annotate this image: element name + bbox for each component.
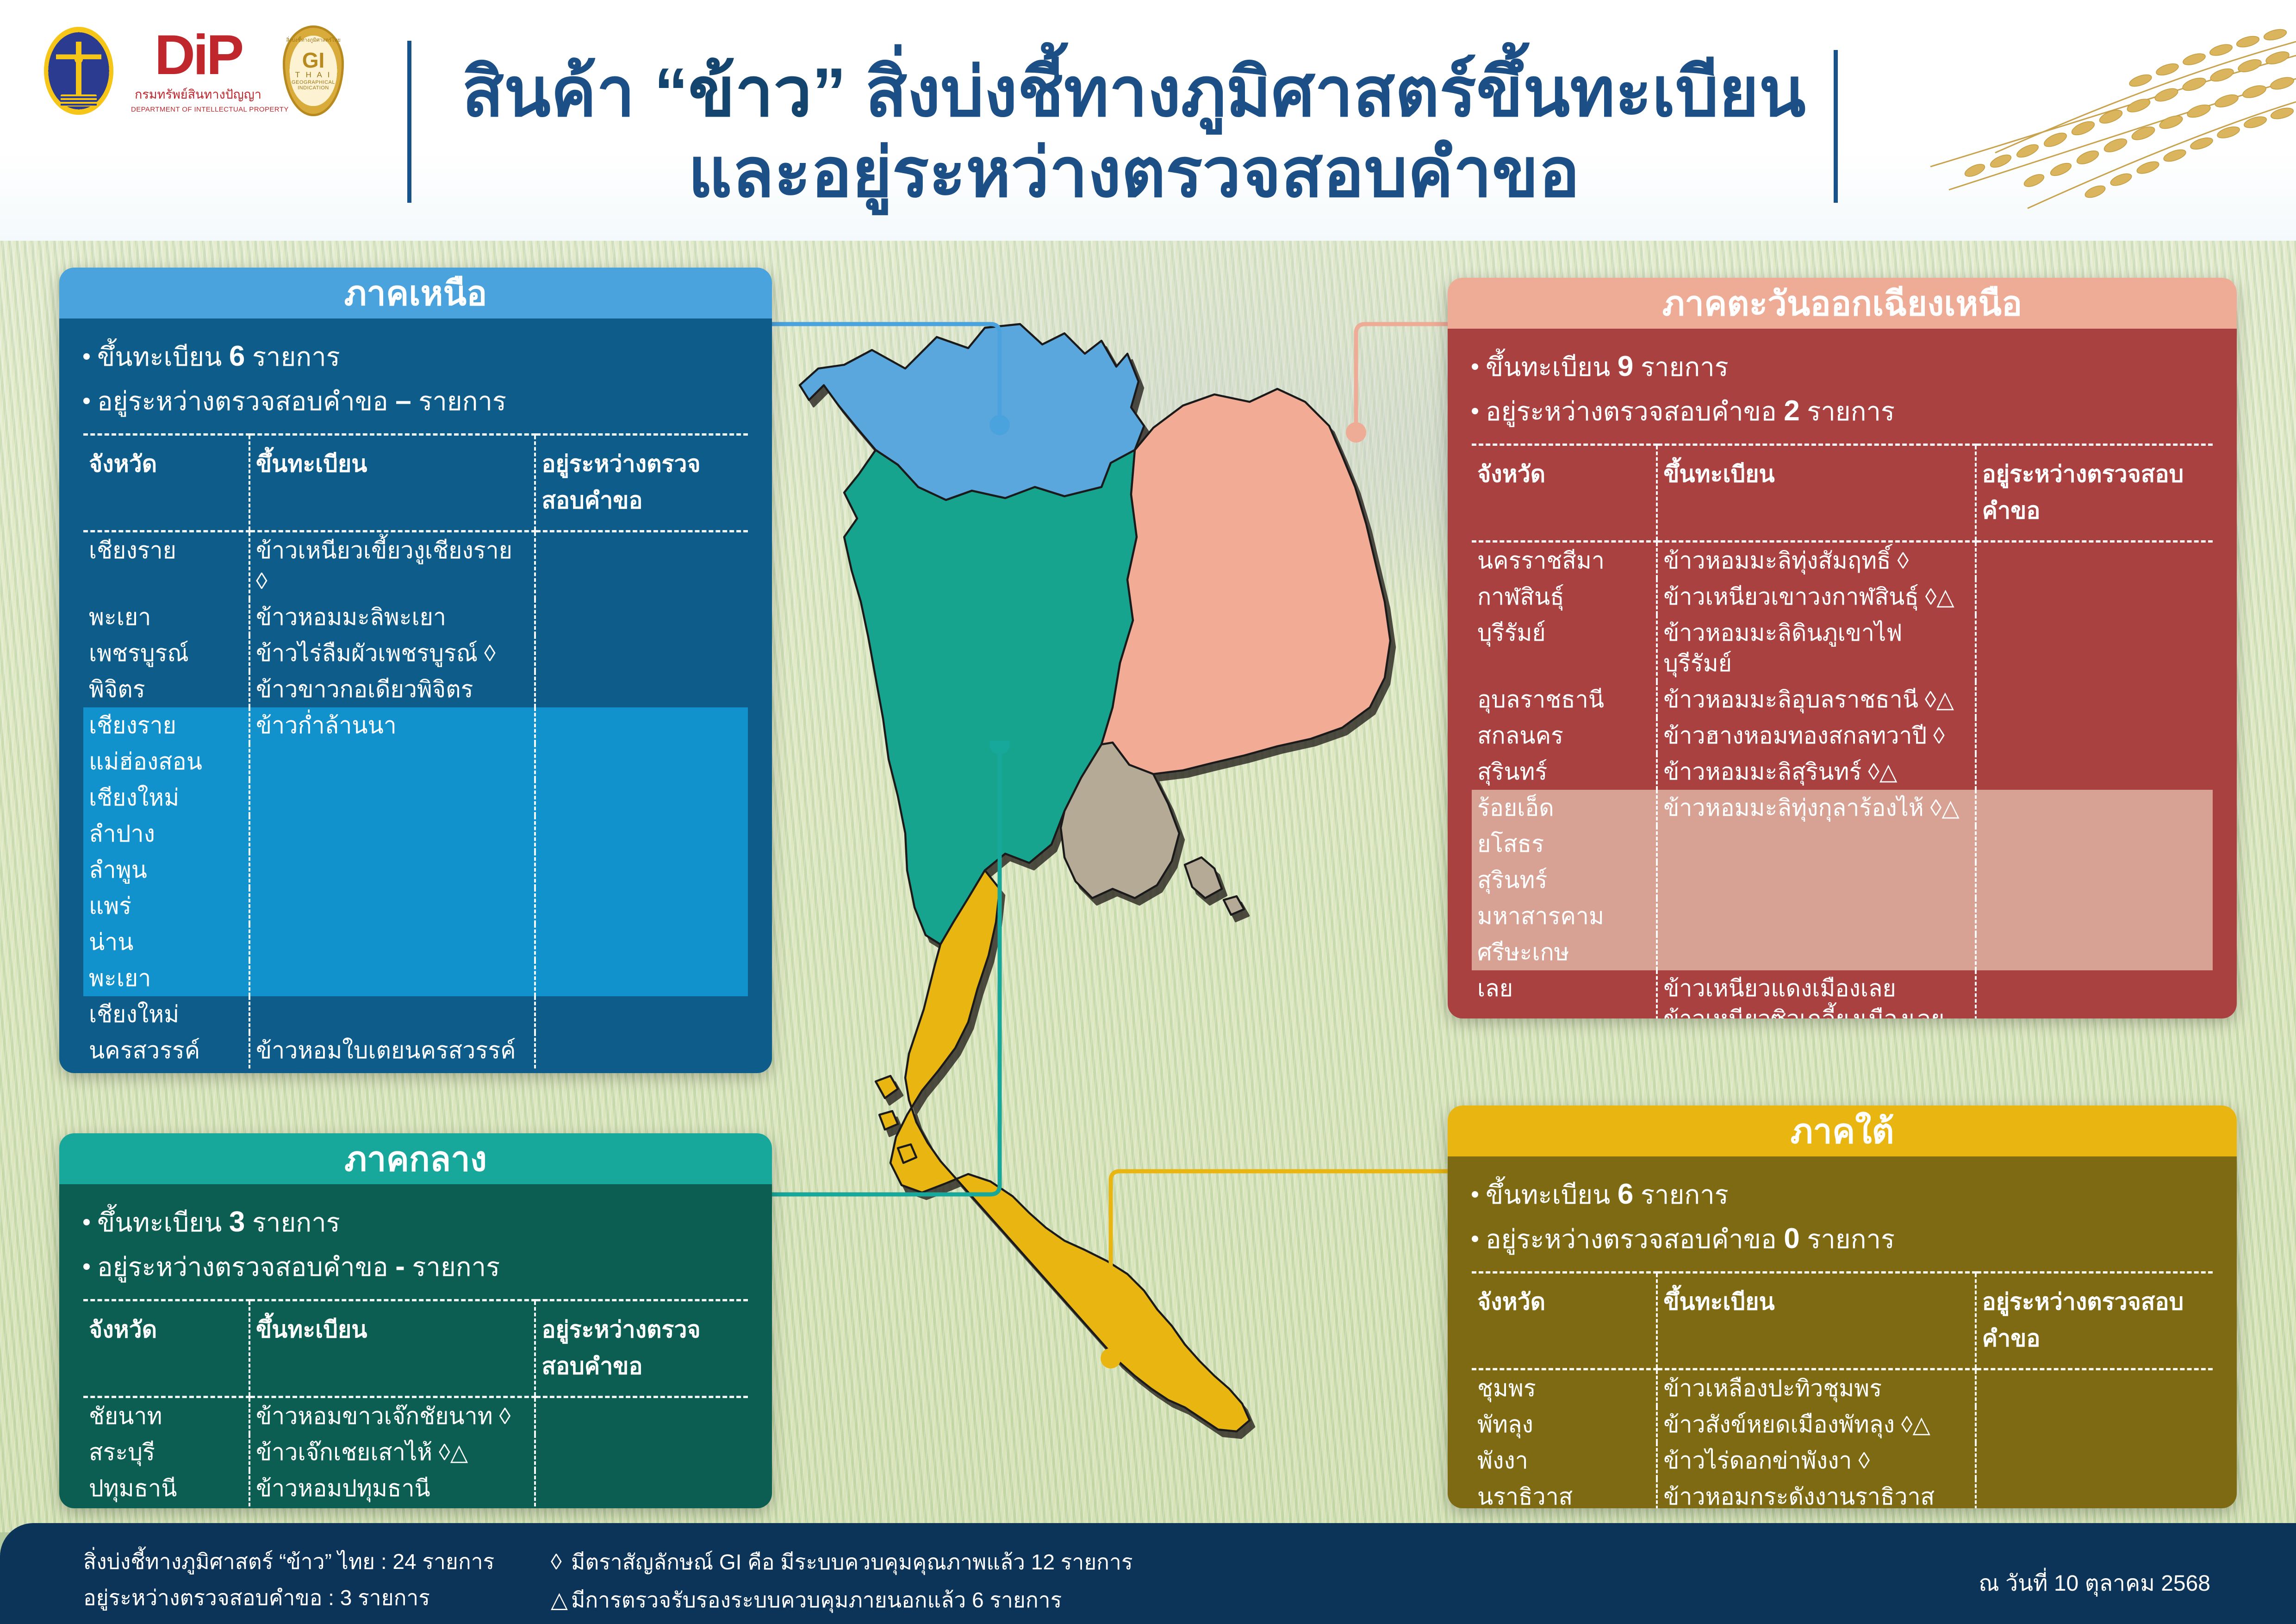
cell-registered: ข้าวหอมมะลิทุ่งสัมฤทธิ์ ◊ — [1657, 542, 1975, 579]
title-divider-left — [407, 41, 411, 203]
title-line-2: และอยู่ระหว่างตรวจสอบคำขอ — [440, 135, 1828, 212]
bullet-dot-icon — [83, 1219, 90, 1225]
title-part-product: สินค้า — [462, 54, 654, 131]
cell-registered: ข้าวหอมใบเตยนครสวรรค์ — [249, 1032, 535, 1068]
region-table-north: จังหวัด ขึ้นทะเบียน อยู่ระหว่างตรวจสอบคำ… — [83, 433, 748, 1068]
cell-pending — [1976, 1406, 2213, 1443]
cell-province: อุบลราชธานี — [1472, 681, 1657, 718]
footer-legend: ◊มีตราสัญลักษณ์ GI คือ มีระบบควบคุมคุณภา… — [551, 1543, 1133, 1619]
table-header-row: จังหวัด ขึ้นทะเบียน อยู่ระหว่างตรวจสอบคำ… — [83, 1300, 748, 1397]
region-summary-north: ขึ้นทะเบียน 6 รายการ อยู่ระหว่างตรวจสอบค… — [83, 334, 748, 423]
col-header-pending: อยู่ระหว่างตรวจสอบคำขอ — [1976, 445, 2213, 542]
triangle-icon: △ — [551, 1581, 571, 1619]
cell-province: ร้อยเอ็ด — [1472, 790, 1657, 826]
cell-pending — [1976, 579, 2213, 615]
pending-count-northeast: อยู่ระหว่างตรวจสอบคำขอ 2 รายการ — [1472, 389, 2213, 433]
cell-registered: ข้าวฮางหอมทองสกลทวาปี ◊ — [1657, 718, 1975, 754]
table-row: เชียงรายข้าวเหนียวเขี้ยวงูเชียงราย ◊ — [83, 531, 748, 600]
table-row: นครสวรรค์ข้าวหอมใบเตยนครสวรรค์ — [83, 1032, 748, 1068]
table-row: สกลนครข้าวฮางหอมทองสกลทวาปี ◊ — [1472, 718, 2213, 754]
col-header-province: จังหวัด — [1472, 1273, 1657, 1369]
table-row: เชียงใหม่ — [83, 780, 748, 816]
gi-sub-line-1: GEOGRAPHICAL — [292, 80, 335, 85]
registered-count-northeast: ขึ้นทะเบียน 9 รายการ — [1472, 344, 2213, 389]
cell-registered — [249, 743, 535, 780]
col-header-province: จังหวัด — [1472, 445, 1657, 542]
cell-province: เลย — [1472, 970, 1657, 1018]
cell-pending — [535, 960, 748, 996]
col-header-pending: อยู่ระหว่างตรวจสอบคำขอ — [1976, 1273, 2213, 1369]
cell-pending — [1976, 718, 2213, 754]
map-region-northeast — [1101, 389, 1390, 774]
cell-registered — [249, 960, 535, 996]
cell-registered: ข้าวหอมมะลิอุบลราชธานี ◊△ — [1657, 681, 1975, 718]
table-row: น่าน — [83, 924, 748, 960]
footer-pending-items: อยู่ระหว่างตรวจสอบคำขอ : 3 รายการ — [83, 1580, 494, 1616]
cell-province: พัทลุง — [1472, 1406, 1657, 1443]
region-panel-south: ภาคใต้ ขึ้นทะเบียน 6 รายการ อยู่ระหว่างต… — [1448, 1106, 2237, 1508]
cell-registered — [249, 888, 535, 924]
dip-english-name: DEPARTMENT OF INTELLECTUAL PROPERTY — [131, 106, 265, 113]
cell-registered — [249, 852, 535, 888]
cell-province: เชียงใหม่ — [83, 996, 249, 1032]
cell-pending — [535, 707, 748, 743]
cell-registered — [249, 816, 535, 852]
pending-count-central: อยู่ระหว่างตรวจสอบคำขอ - รายการ — [83, 1244, 748, 1289]
col-header-province: จังหวัด — [83, 1300, 249, 1397]
cell-pending — [1976, 898, 2213, 934]
cell-registered — [1657, 862, 1975, 898]
footer-total-items: สิ่งบ่งชี้ทางภูมิศาสตร์ “ข้าว” ไทย : 24 … — [83, 1543, 494, 1580]
cell-registered: ข้าวหอมมะลิสุรินทร์ ◊△ — [1657, 754, 1975, 790]
cell-pending — [535, 816, 748, 852]
table-row: ยโสธร — [1472, 826, 2213, 862]
thailand-map — [787, 296, 1435, 1509]
cell-registered: ข้าวเจ๊กเชยเสาไห้ ◊△ — [249, 1434, 535, 1470]
cell-pending — [535, 924, 748, 960]
bullet-dot-icon — [1472, 408, 1478, 414]
bullet-dot-icon — [1472, 1191, 1478, 1198]
page-header: DiP กรมทรัพย์สินทางปัญญา DEPARTMENT OF I… — [0, 0, 2296, 241]
footer-date: ณ วันที่ 10 ตุลาคม 2568 — [1979, 1566, 2210, 1601]
bullet-dot-icon — [83, 1263, 90, 1270]
region-panel-central: ภาคกลาง ขึ้นทะเบียน 3 รายการ อยู่ระหว่าง… — [59, 1133, 772, 1508]
title-part-gi: สิ่งบ่งชี้ทางภูมิศาสตร์ขึ้นทะเบียน — [846, 54, 1805, 131]
map-region-south — [890, 870, 1250, 1431]
region-table-south: จังหวัด ขึ้นทะเบียน อยู่ระหว่างตรวจสอบคำ… — [1472, 1271, 2213, 1508]
cell-province: แพร่ — [83, 888, 249, 924]
map-region-east-islands — [1185, 857, 1244, 915]
registered-count-central: ขึ้นทะเบียน 3 รายการ — [83, 1200, 748, 1244]
table-row: สุรินทร์ — [1472, 862, 2213, 898]
region-panel-north: ภาคเหนือ ขึ้นทะเบียน 6 รายการ อยู่ระหว่า… — [59, 268, 772, 1073]
table-row: สระบุรีข้าวเจ๊กเชยเสาไห้ ◊△ — [83, 1434, 748, 1470]
cell-province: แม่ฮ่องสอน — [83, 743, 249, 780]
cell-registered: ข้าวหอมปทุมธานี — [249, 1470, 535, 1506]
table-row: พะเยาข้าวหอมมะลิพะเยา — [83, 599, 748, 635]
cell-registered: ข้าวหอมมะลิดินภูเขาไฟบุรีรัมย์ — [1657, 615, 1975, 681]
table-row: ร้อยเอ็ดข้าวหอมมะลิทุ่งกุลาร้องไห้ ◊△ — [1472, 790, 2213, 826]
cell-province: ชัยนาท — [83, 1397, 249, 1435]
title-part-rice: “ข้าว” — [654, 54, 846, 131]
cell-registered — [1657, 934, 1975, 970]
col-header-registered: ขึ้นทะเบียน — [1657, 445, 1975, 542]
table-row: บุรีรัมย์ข้าวหอมมะลิดินภูเขาไฟบุรีรัมย์ — [1472, 615, 2213, 681]
table-row: ชุมพรข้าวเหลืองปะทิวชุมพร — [1472, 1369, 2213, 1407]
cell-province: ลำปาง — [83, 816, 249, 852]
cell-pending — [535, 531, 748, 600]
cell-pending — [1976, 754, 2213, 790]
cell-pending — [535, 780, 748, 816]
region-summary-south: ขึ้นทะเบียน 6 รายการ อยู่ระหว่างตรวจสอบค… — [1472, 1172, 2213, 1261]
cell-pending — [1976, 615, 2213, 681]
table-header-row: จังหวัด ขึ้นทะเบียน อยู่ระหว่างตรวจสอบคำ… — [1472, 1273, 2213, 1369]
cell-province: สกลนคร — [1472, 718, 1657, 754]
cell-registered — [249, 996, 535, 1032]
table-row: นราธิวาสข้าวหอมกระดังงานราธิวาส — [1472, 1479, 2213, 1508]
table-header-row: จังหวัด ขึ้นทะเบียน อยู่ระหว่างตรวจสอบคำ… — [83, 435, 748, 531]
region-panel-northeast: ภาคตะวันออกเฉียงเหนือ ขึ้นทะเบียน 9 รายก… — [1448, 278, 2237, 1018]
col-header-registered: ขึ้นทะเบียน — [249, 435, 535, 531]
cell-province: นครราชสีมา — [1472, 542, 1657, 579]
cell-pending — [1976, 1443, 2213, 1479]
cell-province: สุรินทร์ — [1472, 754, 1657, 790]
col-header-registered: ขึ้นทะเบียน — [1657, 1273, 1975, 1369]
cell-pending — [535, 743, 748, 780]
col-header-pending: อยู่ระหว่างตรวจสอบคำขอ — [535, 435, 748, 531]
cell-province: ชุมพร — [1472, 1369, 1657, 1407]
cell-province: เชียงราย — [83, 707, 249, 743]
cell-registered: ข้าวไร่ลืมผัวเพชรบูรณ์ ◊ — [249, 635, 535, 671]
page-footer: สิ่งบ่งชี้ทางภูมิศาสตร์ “ข้าว” ไทย : 24 … — [0, 1523, 2296, 1624]
table-row: มหาสารคาม — [1472, 898, 2213, 934]
cell-province: ปทุมธานี — [83, 1470, 249, 1506]
table-row: พัทลุงข้าวสังข์หยดเมืองพัทลุง ◊△ — [1472, 1406, 2213, 1443]
cell-province: เพชรบูรณ์ — [83, 635, 249, 671]
dip-thai-name: กรมทรัพย์สินทางปัญญา — [131, 84, 265, 104]
title-divider-right — [1834, 50, 1838, 203]
cell-registered: ข้าวเหลืองปะทิวชุมพร — [1657, 1369, 1975, 1407]
col-header-pending: อยู่ระหว่างตรวจสอบคำขอ — [535, 1300, 748, 1397]
cell-registered — [1657, 898, 1975, 934]
cell-pending — [535, 852, 748, 888]
cell-province: กาฬสินธุ์ — [1472, 579, 1657, 615]
table-row: ปทุมธานีข้าวหอมปทุมธานี — [83, 1470, 748, 1506]
logo-group: DiP กรมทรัพย์สินทางปัญญา DEPARTMENT OF I… — [44, 25, 344, 116]
cell-province: พะเยา — [83, 599, 249, 635]
table-row: ลำพูน — [83, 852, 748, 888]
cell-registered: ข้าวหอมมะลิทุ่งกุลาร้องไห้ ◊△ — [1657, 790, 1975, 826]
region-title-south: ภาคใต้ — [1448, 1106, 2237, 1156]
cell-pending — [535, 671, 748, 707]
cell-pending — [535, 1434, 748, 1470]
gi-thai-label: T H A I — [295, 70, 332, 80]
region-title-north: ภาคเหนือ — [59, 268, 772, 319]
cell-province: พิจิตร — [83, 671, 249, 707]
table-row: ลำปาง — [83, 816, 748, 852]
table-row: กาฬสินธุ์ข้าวเหนียวเขาวงกาฬสินธุ์ ◊△ — [1472, 579, 2213, 615]
page-title: สินค้า “ข้าว” สิ่งบ่งชี้ทางภูมิศาสตร์ขึ้… — [440, 51, 1828, 211]
gi-sub-line-2: INDICATION — [298, 85, 329, 91]
cell-registered: ข้าวเหนียวแดงเมืองเลย ข้าวเหนียวซิวเกลี้… — [1657, 970, 1975, 1018]
cell-pending — [1976, 826, 2213, 862]
table-row: เพชรบูรณ์ข้าวไร่ลืมผัวเพชรบูรณ์ ◊ — [83, 635, 748, 671]
region-summary-northeast: ขึ้นทะเบียน 9 รายการ อยู่ระหว่างตรวจสอบค… — [1472, 344, 2213, 433]
rice-ears-illustration — [1842, 14, 2296, 227]
cell-registered: ข้าวไร่ดอกข่าพังงา ◊ — [1657, 1443, 1975, 1479]
cell-registered: ข้าวสังข์หยดเมืองพัทลุง ◊△ — [1657, 1406, 1975, 1443]
cell-province: พะเยา — [83, 960, 249, 996]
legend-triangle: △มีการตรวจรับรองระบบควบคุมภายนอกแล้ว 6 ร… — [551, 1581, 1133, 1619]
pending-count-south: อยู่ระหว่างตรวจสอบคำขอ 0 รายการ — [1472, 1217, 2213, 1261]
cell-registered: ข้าวก่ำล้านนา — [249, 707, 535, 743]
cell-registered — [1657, 826, 1975, 862]
pending-count-north: อยู่ระหว่างตรวจสอบคำขอ – รายการ — [83, 379, 748, 423]
cell-province: นราธิวาส — [1472, 1479, 1657, 1508]
bullet-dot-icon — [83, 398, 90, 404]
cell-province: นครสวรรค์ — [83, 1032, 249, 1068]
bullet-dot-icon — [83, 353, 90, 360]
cell-registered: ข้าวขาวกอเดียวพิจิตร — [249, 671, 535, 707]
bullet-dot-icon — [1472, 363, 1478, 370]
cell-province: มหาสารคาม — [1472, 898, 1657, 934]
gi-monogram: GI — [302, 51, 325, 70]
cell-province: เชียงใหม่ — [83, 780, 249, 816]
cell-province: ลำพูน — [83, 852, 249, 888]
table-row: นครราชสีมาข้าวหอมมะลิทุ่งสัมฤทธิ์ ◊ — [1472, 542, 2213, 579]
cell-pending — [1976, 542, 2213, 579]
cell-registered: ข้าวเหนียวเขาวงกาฬสินธุ์ ◊△ — [1657, 579, 1975, 615]
registered-count-north: ขึ้นทะเบียน 6 รายการ — [83, 334, 748, 379]
cell-pending — [1976, 1369, 2213, 1407]
registered-count-south: ขึ้นทะเบียน 6 รายการ — [1472, 1172, 2213, 1217]
table-row: เชียงรายข้าวก่ำล้านนา — [83, 707, 748, 743]
diamond-icon: ◊ — [551, 1543, 571, 1581]
cell-registered: ข้าวหอมขาวเจ๊กชัยนาท ◊ — [249, 1397, 535, 1435]
cell-province: ศรีษะเกษ — [1472, 934, 1657, 970]
table-row: พังงาข้าวไร่ดอกข่าพังงา ◊ — [1472, 1443, 2213, 1479]
cell-registered — [249, 780, 535, 816]
legend-diamond: ◊มีตราสัญลักษณ์ GI คือ มีระบบควบคุมคุณภา… — [551, 1543, 1133, 1581]
cell-pending — [1976, 1479, 2213, 1508]
dip-wordmark: DiP — [155, 28, 242, 82]
cell-pending — [535, 1470, 748, 1506]
region-table-northeast: จังหวัด ขึ้นทะเบียน อยู่ระหว่างตรวจสอบคำ… — [1472, 443, 2213, 1018]
cell-pending — [1976, 934, 2213, 970]
bullet-dot-icon — [1472, 1236, 1478, 1242]
cell-province: น่าน — [83, 924, 249, 960]
footer-summary: สิ่งบ่งชี้ทางภูมิศาสตร์ “ข้าว” ไทย : 24 … — [83, 1543, 494, 1616]
cell-pending — [535, 996, 748, 1032]
cell-province: บุรีรัมย์ — [1472, 615, 1657, 681]
gi-thai-logo: สิ่งบ่งชี้ทางภูมิศาสตร์ไทย GI T H A I GE… — [283, 25, 344, 116]
table-row: เชียงใหม่ — [83, 996, 748, 1032]
cell-registered: ข้าวหอมกระดังงานราธิวาส — [1657, 1479, 1975, 1508]
region-summary-central: ขึ้นทะเบียน 3 รายการ อยู่ระหว่างตรวจสอบค… — [83, 1200, 748, 1289]
table-row: ชัยนาทข้าวหอมขาวเจ๊กชัยนาท ◊ — [83, 1397, 748, 1435]
table-row: เลยข้าวเหนียวแดงเมืองเลย ข้าวเหนียวซิวเก… — [1472, 970, 2213, 1018]
cell-pending — [1976, 862, 2213, 898]
table-row: สุรินทร์ข้าวหอมมะลิสุรินทร์ ◊△ — [1472, 754, 2213, 790]
region-title-central: ภาคกลาง — [59, 1133, 772, 1184]
cell-province: เชียงราย — [83, 531, 249, 600]
table-row: อุบลราชธานีข้าวหอมมะลิอุบลราชธานี ◊△ — [1472, 681, 2213, 718]
col-header-registered: ขึ้นทะเบียน — [249, 1300, 535, 1397]
cell-pending — [535, 1397, 748, 1435]
cell-pending — [1976, 790, 2213, 826]
table-row: แม่ฮ่องสอน — [83, 743, 748, 780]
region-table-central: จังหวัด ขึ้นทะเบียน อยู่ระหว่างตรวจสอบคำ… — [83, 1299, 748, 1506]
col-header-province: จังหวัด — [83, 435, 249, 531]
cell-province: พังงา — [1472, 1443, 1657, 1479]
table-row: พะเยา — [83, 960, 748, 996]
table-row: ศรีษะเกษ — [1472, 934, 2213, 970]
cell-pending — [535, 635, 748, 671]
cell-province: สระบุรี — [83, 1434, 249, 1470]
cell-registered — [249, 924, 535, 960]
region-title-northeast: ภาคตะวันออกเฉียงเหนือ — [1448, 278, 2237, 329]
cell-pending — [535, 888, 748, 924]
table-header-row: จังหวัด ขึ้นทะเบียน อยู่ระหว่างตรวจสอบคำ… — [1472, 445, 2213, 542]
dip-logo: DiP กรมทรัพย์สินทางปัญญา DEPARTMENT OF I… — [131, 28, 265, 114]
cell-registered: ข้าวหอมมะลิพะเยา — [249, 599, 535, 635]
garuda-emblem-icon — [44, 27, 113, 115]
cell-pending — [1976, 970, 2213, 1018]
map-region-north — [800, 324, 1144, 500]
cell-pending — [535, 599, 748, 635]
cell-province: ยโสธร — [1472, 826, 1657, 862]
cell-province: สุรินทร์ — [1472, 862, 1657, 898]
cell-pending — [1976, 681, 2213, 718]
gi-logo-arc-text: สิ่งบ่งชี้ทางภูมิศาสตร์ไทย — [286, 36, 340, 44]
table-row: แพร่ — [83, 888, 748, 924]
table-row: พิจิตรข้าวขาวกอเดียวพิจิตร — [83, 671, 748, 707]
cell-registered: ข้าวเหนียวเขี้ยวงูเชียงราย ◊ — [249, 531, 535, 600]
cell-pending — [535, 1032, 748, 1068]
